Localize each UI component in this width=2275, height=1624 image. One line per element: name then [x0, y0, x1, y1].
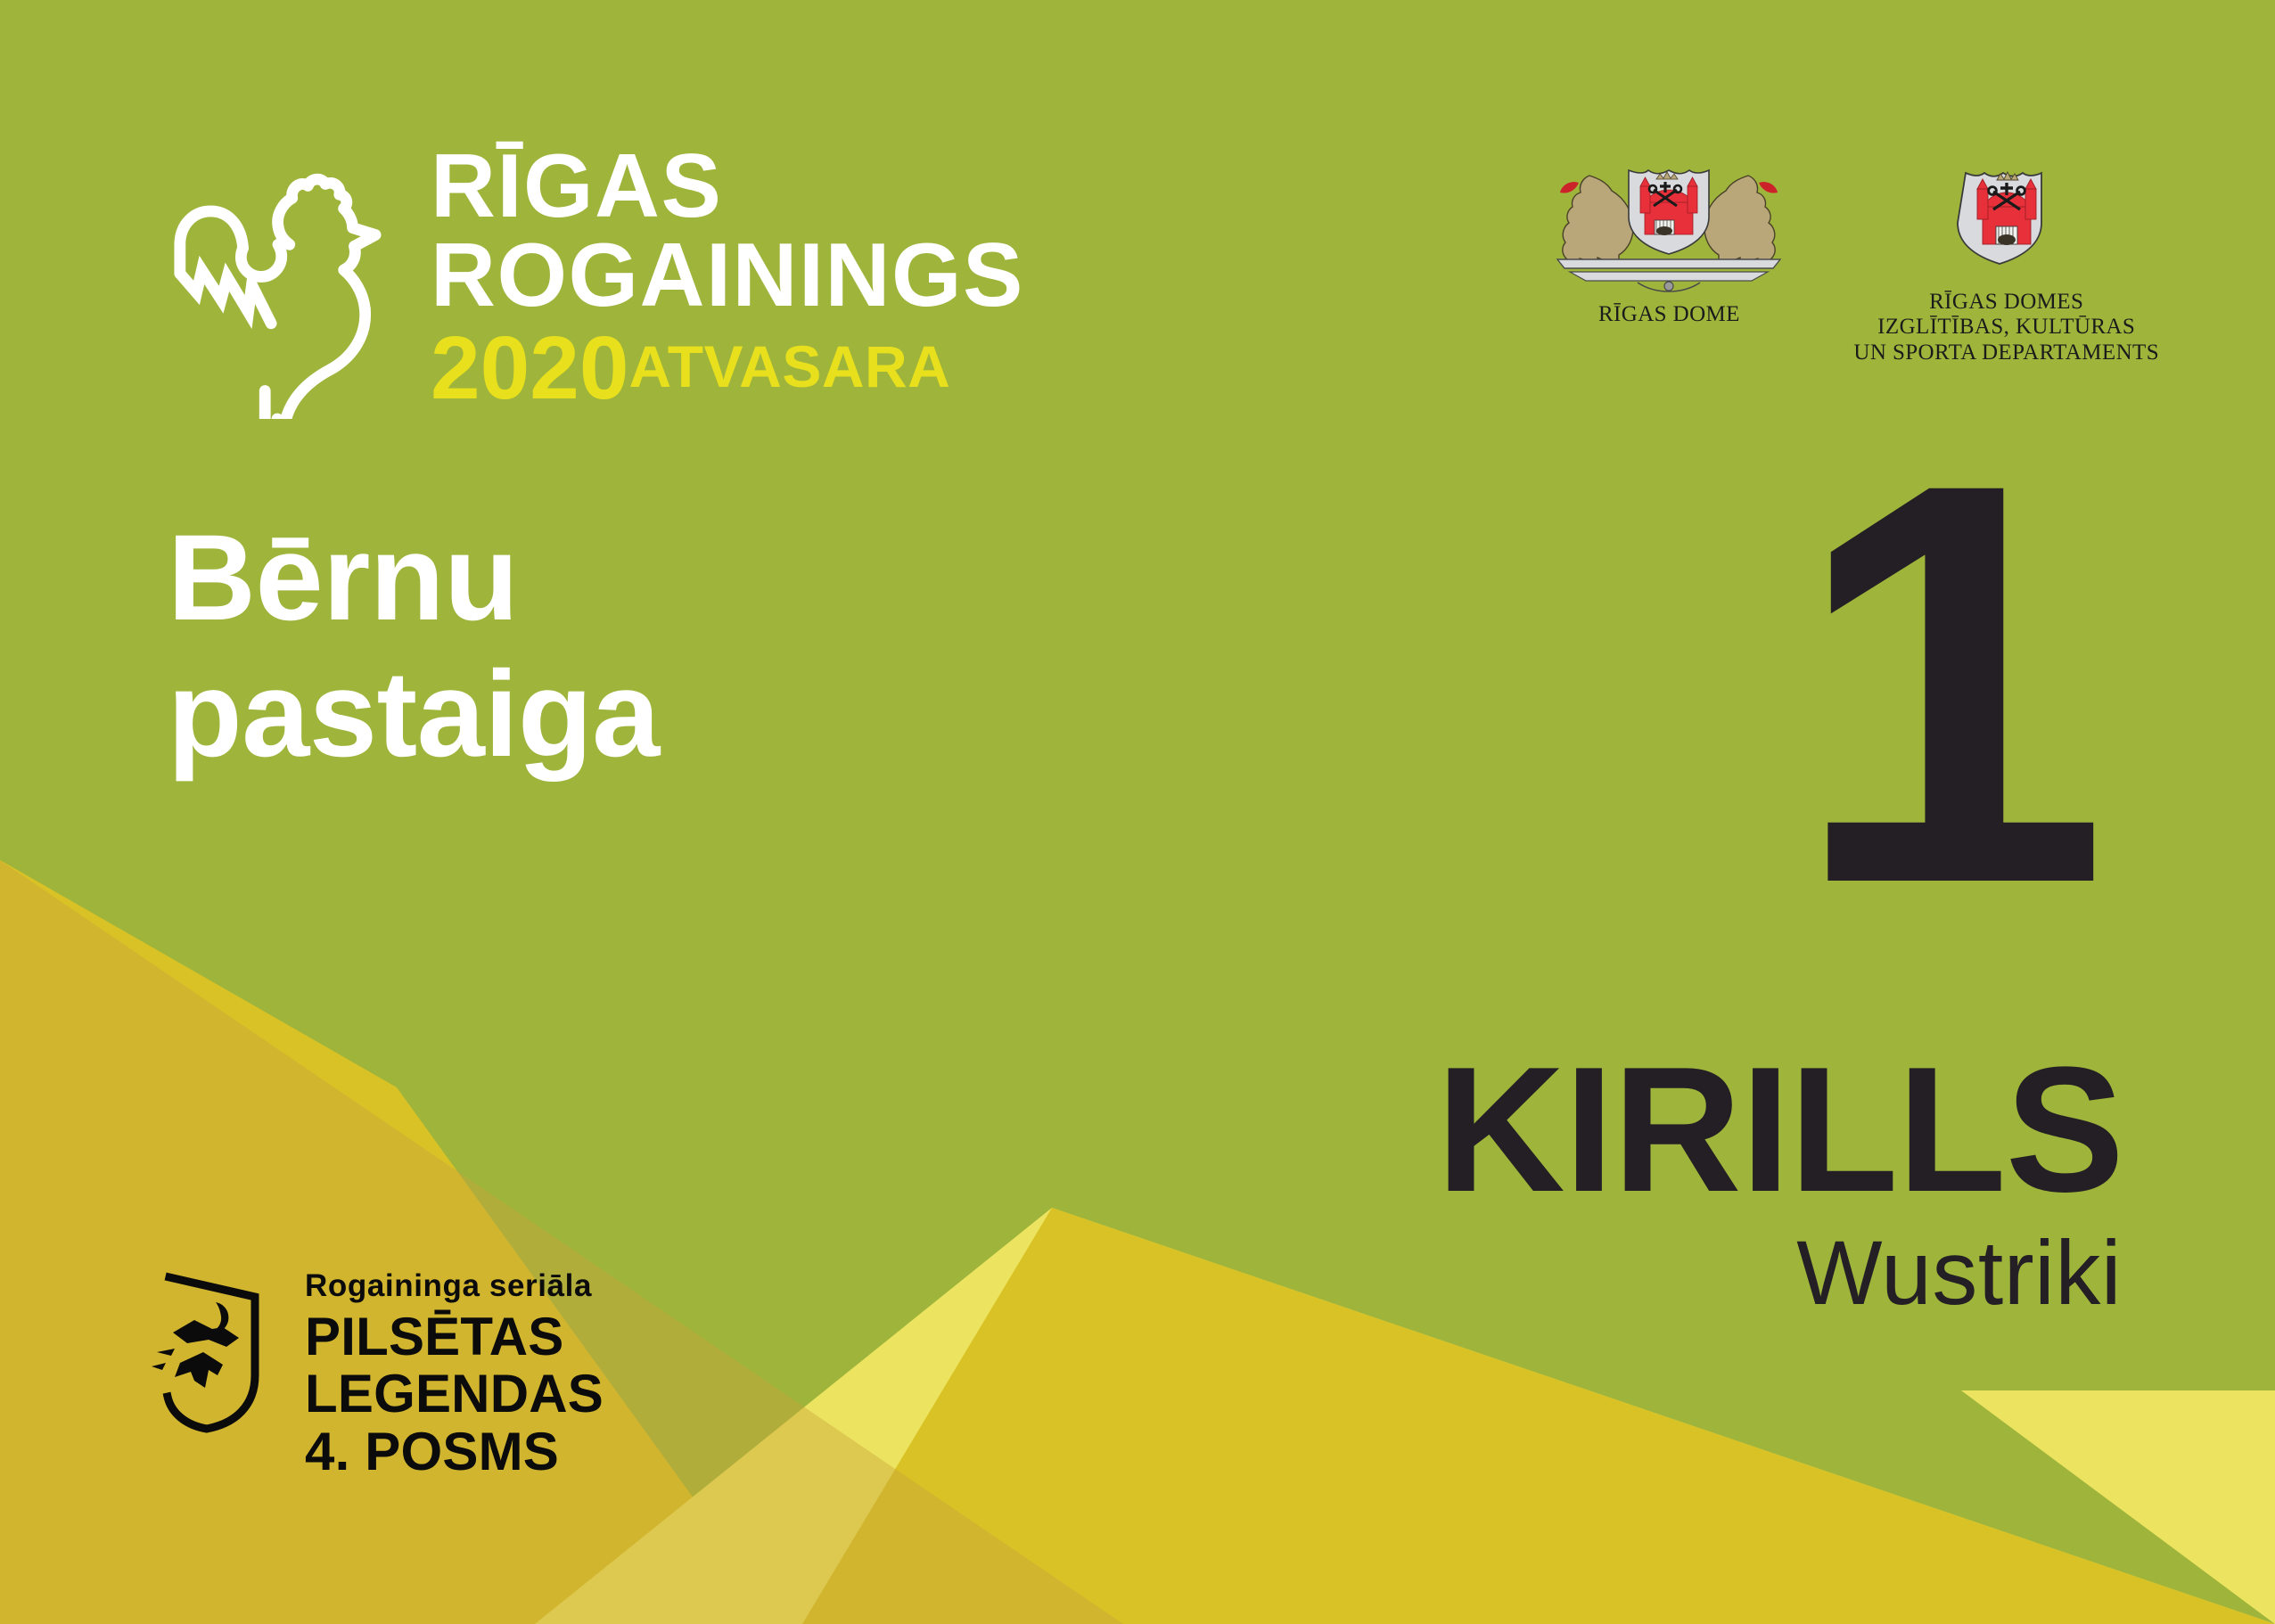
event-logo-line1: RĪGAS — [431, 142, 1024, 231]
rooster-icon — [165, 156, 388, 419]
participant-team: Wustriki — [1796, 1227, 2122, 1318]
series-title-line2: LEGENDAS — [305, 1366, 604, 1423]
event-category-title-line2: pastaiga — [168, 646, 660, 783]
participant-name: KIRILLS — [1436, 1041, 2123, 1219]
riga-coat-of-arms-icon — [1540, 156, 1798, 299]
series-stage: 4. POSMS — [305, 1423, 604, 1480]
emblem-riga-city-council: RĪGAS DOME — [1540, 156, 1798, 327]
emblem-caption-line3: UN SPORTA DEPARTAMENTS — [1853, 340, 2159, 365]
emblem-caption: RĪGAS DOME — [1540, 302, 1798, 327]
sponsor-emblems: RĪGAS DOME — [1540, 156, 2159, 365]
event-logo-season: ATVASARA — [628, 337, 950, 396]
series-logo: Rogaininga seriāla PILSĒTAS LEGENDAS 4. … — [150, 1270, 604, 1480]
emblem-caption: RĪGAS DOMES IZGLĪTĪBAS, KULTŪRAS UN SPOR… — [1853, 290, 2159, 365]
event-logo-year: 2020 — [431, 324, 628, 413]
emblem-caption-line1: RĪGAS DOMES — [1853, 290, 2159, 315]
race-bib-card: RĪGAS ROGAININGS 2020 ATVASARA Bērnu pas… — [0, 0, 2275, 1624]
riga-shield-icon — [1953, 156, 2060, 281]
event-category-title: Bērnu pastaiga — [168, 510, 660, 783]
series-title-line1: PILSĒTAS — [305, 1308, 604, 1366]
event-category-title-line1: Bērnu — [168, 510, 660, 646]
emblem-riga-department: RĪGAS DOMES IZGLĪTĪBAS, KULTŪRAS UN SPOR… — [1853, 156, 2159, 365]
participant-number: 1 — [1792, 450, 2104, 918]
shield-runner-icon — [150, 1270, 282, 1439]
event-logo: RĪGAS ROGAININGS 2020 ATVASARA — [165, 147, 1024, 419]
event-logo-line2: ROGAININGS — [431, 231, 1024, 320]
series-kicker: Rogaininga seriāla — [305, 1270, 604, 1301]
emblem-caption-line2: IZGLĪTĪBAS, KULTŪRAS — [1853, 315, 2159, 340]
